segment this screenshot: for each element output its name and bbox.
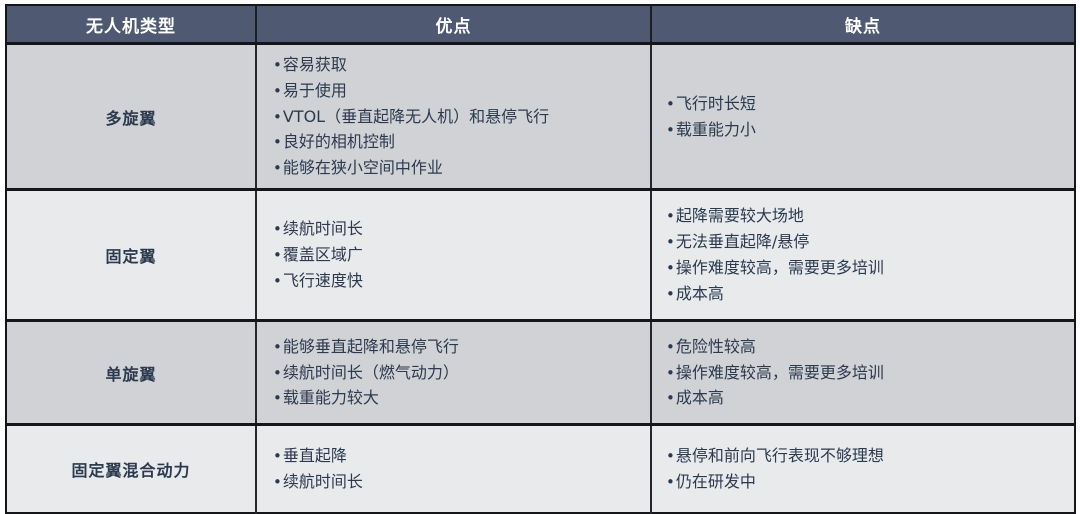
cell-advantages: 续航时间长 覆盖区域广 飞行速度快 <box>256 190 651 321</box>
advantages-list: 能够垂直起降和悬停飞行 续航时间长（燃气动力） 载重能力较大 <box>273 334 640 412</box>
drone-type-comparison-table: 无人机类型 优点 缺点 多旋翼 容易获取 易于使用 VTOL（垂直起降无人机）和… <box>5 4 1076 514</box>
advantages-list: 容易获取 易于使用 VTOL（垂直起降无人机）和悬停飞行 良好的相机控制 能够在… <box>273 52 640 182</box>
list-item: 无法垂直起降/悬停 <box>666 229 1064 255</box>
cell-drone-type: 多旋翼 <box>6 44 256 190</box>
list-item: VTOL（垂直起降无人机）和悬停飞行 <box>273 104 640 130</box>
table-row: 单旋翼 能够垂直起降和悬停飞行 续航时间长（燃气动力） 载重能力较大 危险性较高… <box>6 321 1075 425</box>
cell-disadvantages: 危险性较高 操作难度较高，需要更多培训 成本高 <box>651 321 1075 425</box>
list-item: 起降需要较大场地 <box>666 203 1064 229</box>
list-item: 危险性较高 <box>666 334 1064 360</box>
cell-advantages: 容易获取 易于使用 VTOL（垂直起降无人机）和悬停飞行 良好的相机控制 能够在… <box>256 44 651 190</box>
list-item: 能够在狭小空间中作业 <box>273 155 640 181</box>
list-item: 悬停和前向飞行表现不够理想 <box>666 443 1064 469</box>
list-item: 操作难度较高，需要更多培训 <box>666 360 1064 386</box>
advantages-list: 续航时间长 覆盖区域广 飞行速度快 <box>273 216 640 294</box>
cell-advantages: 能够垂直起降和悬停飞行 续航时间长（燃气动力） 载重能力较大 <box>256 321 651 425</box>
list-item: 成本高 <box>666 385 1064 411</box>
list-item: 能够垂直起降和悬停飞行 <box>273 334 640 360</box>
cell-disadvantages: 起降需要较大场地 无法垂直起降/悬停 操作难度较高，需要更多培训 成本高 <box>651 190 1075 321</box>
cell-advantages: 垂直起降 续航时间长 <box>256 425 651 513</box>
table-header: 无人机类型 优点 缺点 <box>6 5 1075 44</box>
list-item: 易于使用 <box>273 78 640 104</box>
list-item: 续航时间长（燃气动力） <box>273 360 640 386</box>
table-body: 多旋翼 容易获取 易于使用 VTOL（垂直起降无人机）和悬停飞行 良好的相机控制… <box>6 44 1075 513</box>
list-item: 续航时间长 <box>273 216 640 242</box>
advantages-list: 垂直起降 续航时间长 <box>273 443 640 495</box>
list-item: 良好的相机控制 <box>273 129 640 155</box>
disadvantages-list: 起降需要较大场地 无法垂直起降/悬停 操作难度较高，需要更多培训 成本高 <box>666 203 1064 307</box>
list-item: 垂直起降 <box>273 443 640 469</box>
table-row: 多旋翼 容易获取 易于使用 VTOL（垂直起降无人机）和悬停飞行 良好的相机控制… <box>6 44 1075 190</box>
list-item: 载重能力较大 <box>273 385 640 411</box>
cell-disadvantages: 飞行时长短 载重能力小 <box>651 44 1075 190</box>
list-item: 飞行速度快 <box>273 268 640 294</box>
table-row: 固定翼混合动力 垂直起降 续航时间长 悬停和前向飞行表现不够理想 仍在研发中 <box>6 425 1075 513</box>
list-item: 成本高 <box>666 281 1064 307</box>
column-header-advantages: 优点 <box>256 5 651 44</box>
list-item: 续航时间长 <box>273 469 640 495</box>
disadvantages-list: 飞行时长短 载重能力小 <box>666 91 1064 143</box>
table-row: 固定翼 续航时间长 覆盖区域广 飞行速度快 起降需要较大场地 无法垂直起降/悬停… <box>6 190 1075 321</box>
list-item: 载重能力小 <box>666 117 1064 143</box>
cell-disadvantages: 悬停和前向飞行表现不够理想 仍在研发中 <box>651 425 1075 513</box>
cell-drone-type: 固定翼 <box>6 190 256 321</box>
list-item: 覆盖区域广 <box>273 242 640 268</box>
list-item: 容易获取 <box>273 52 640 78</box>
cell-drone-type: 固定翼混合动力 <box>6 425 256 513</box>
table-header-row: 无人机类型 优点 缺点 <box>6 5 1075 44</box>
disadvantages-list: 悬停和前向飞行表现不够理想 仍在研发中 <box>666 443 1064 495</box>
column-header-disadvantages: 缺点 <box>651 5 1075 44</box>
disadvantages-list: 危险性较高 操作难度较高，需要更多培训 成本高 <box>666 334 1064 412</box>
list-item: 操作难度较高，需要更多培训 <box>666 255 1064 281</box>
list-item: 飞行时长短 <box>666 91 1064 117</box>
list-item: 仍在研发中 <box>666 469 1064 495</box>
cell-drone-type: 单旋翼 <box>6 321 256 425</box>
column-header-drone-type: 无人机类型 <box>6 5 256 44</box>
comparison-table-container: 无人机类型 优点 缺点 多旋翼 容易获取 易于使用 VTOL（垂直起降无人机）和… <box>0 0 1080 509</box>
